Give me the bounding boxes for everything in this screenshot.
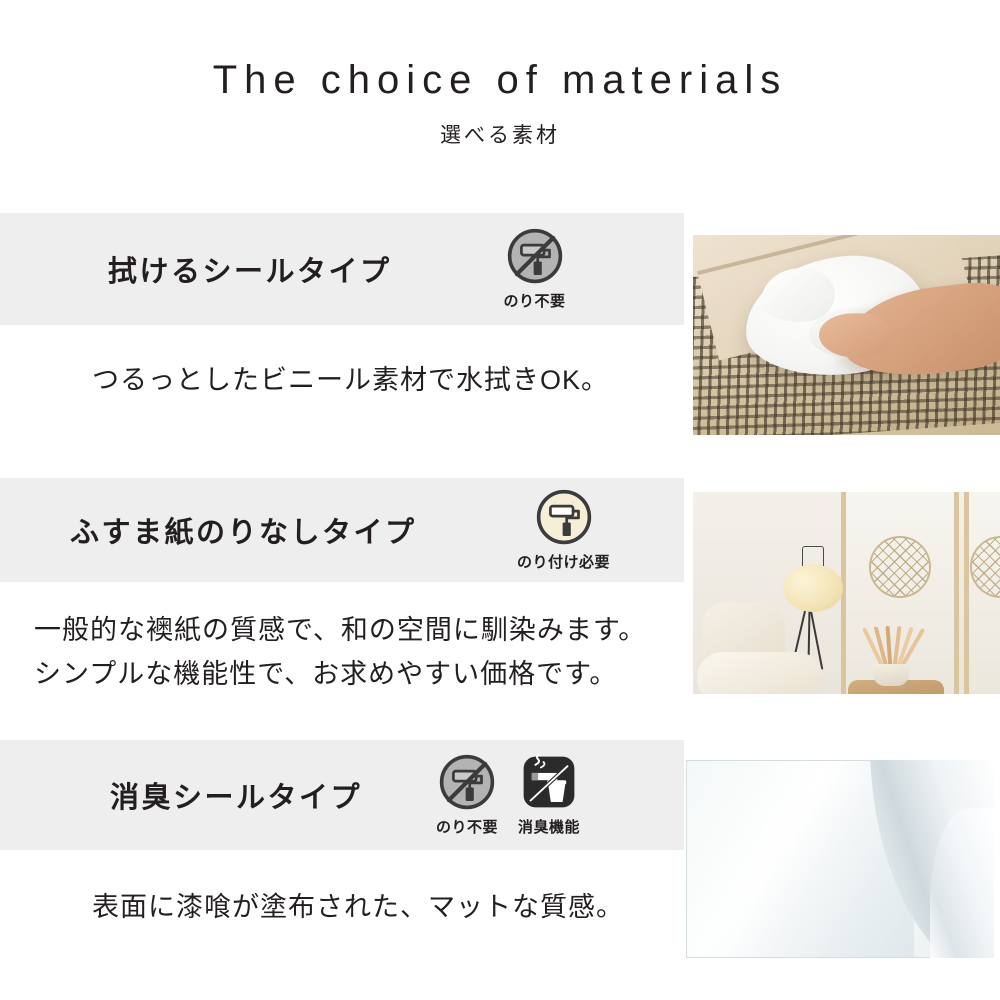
badge-no-glue-label: のり不要 <box>436 816 498 837</box>
photo-2-plant-pot <box>873 664 909 686</box>
section-1-badges: のり不要 <box>502 227 568 311</box>
photo-2-pampas-grass <box>865 620 921 668</box>
section-2-photo <box>693 492 1000 694</box>
section-3-title-bar: 消臭シールタイプ のり不要 <box>0 740 684 850</box>
page-title: The choice of materials <box>213 58 788 103</box>
badge-no-glue: のり不要 <box>502 227 568 311</box>
photo-2-lattice-circle-1 <box>869 536 931 598</box>
badge-glue-required-label: のり付け必要 <box>517 551 610 572</box>
section-1-title-bar: 拭けるシールタイプ のり不要 <box>0 213 684 325</box>
section-3-photo <box>686 760 994 958</box>
page-header: The choice of materials 選べる素材 <box>0 0 1000 200</box>
photo-2-chair-seat <box>697 652 823 694</box>
section-1-body: つるっとしたビニール素材で水拭きOK。 <box>92 358 609 402</box>
badge-deodorizing: 消臭機能 <box>516 753 582 837</box>
section-1-title: 拭けるシールタイプ <box>108 248 392 290</box>
section-3-title: 消臭シールタイプ <box>110 774 362 816</box>
deodorizing-icon <box>520 753 578 811</box>
badge-no-glue-label: のり不要 <box>504 290 566 311</box>
section-3-badges: のり不要 消臭機能 <box>434 753 582 837</box>
section-1-photo <box>693 235 1000 435</box>
photo-2-lamp-frame <box>802 546 824 566</box>
no-glue-roller-icon <box>438 753 496 811</box>
badge-deodorizing-label: 消臭機能 <box>518 816 580 837</box>
section-2-title: ふすま紙のりなしタイプ <box>70 509 417 551</box>
section-3-body: 表面に漆喰が塗布された、マットな質感。 <box>92 885 624 929</box>
section-2-body: 一般的な襖紙の質感で、和の空間に馴染みます。 シンプルな機能性で、お求めやすい価… <box>34 608 646 696</box>
section-2-title-bar: ふすま紙のりなしタイプ のり付け必要 <box>0 478 684 582</box>
photo-2-paper-lantern <box>783 564 843 612</box>
page-subtitle: 選べる素材 <box>440 119 560 149</box>
glue-required-roller-icon <box>535 488 593 546</box>
section-2-badges: のり付け必要 <box>505 488 623 572</box>
badge-glue-required: のり付け必要 <box>505 488 623 572</box>
no-glue-roller-icon <box>506 227 564 285</box>
material-choice-page: The choice of materials 選べる素材 拭けるシールタイプ … <box>0 0 1000 1000</box>
badge-no-glue: のり不要 <box>434 753 500 837</box>
